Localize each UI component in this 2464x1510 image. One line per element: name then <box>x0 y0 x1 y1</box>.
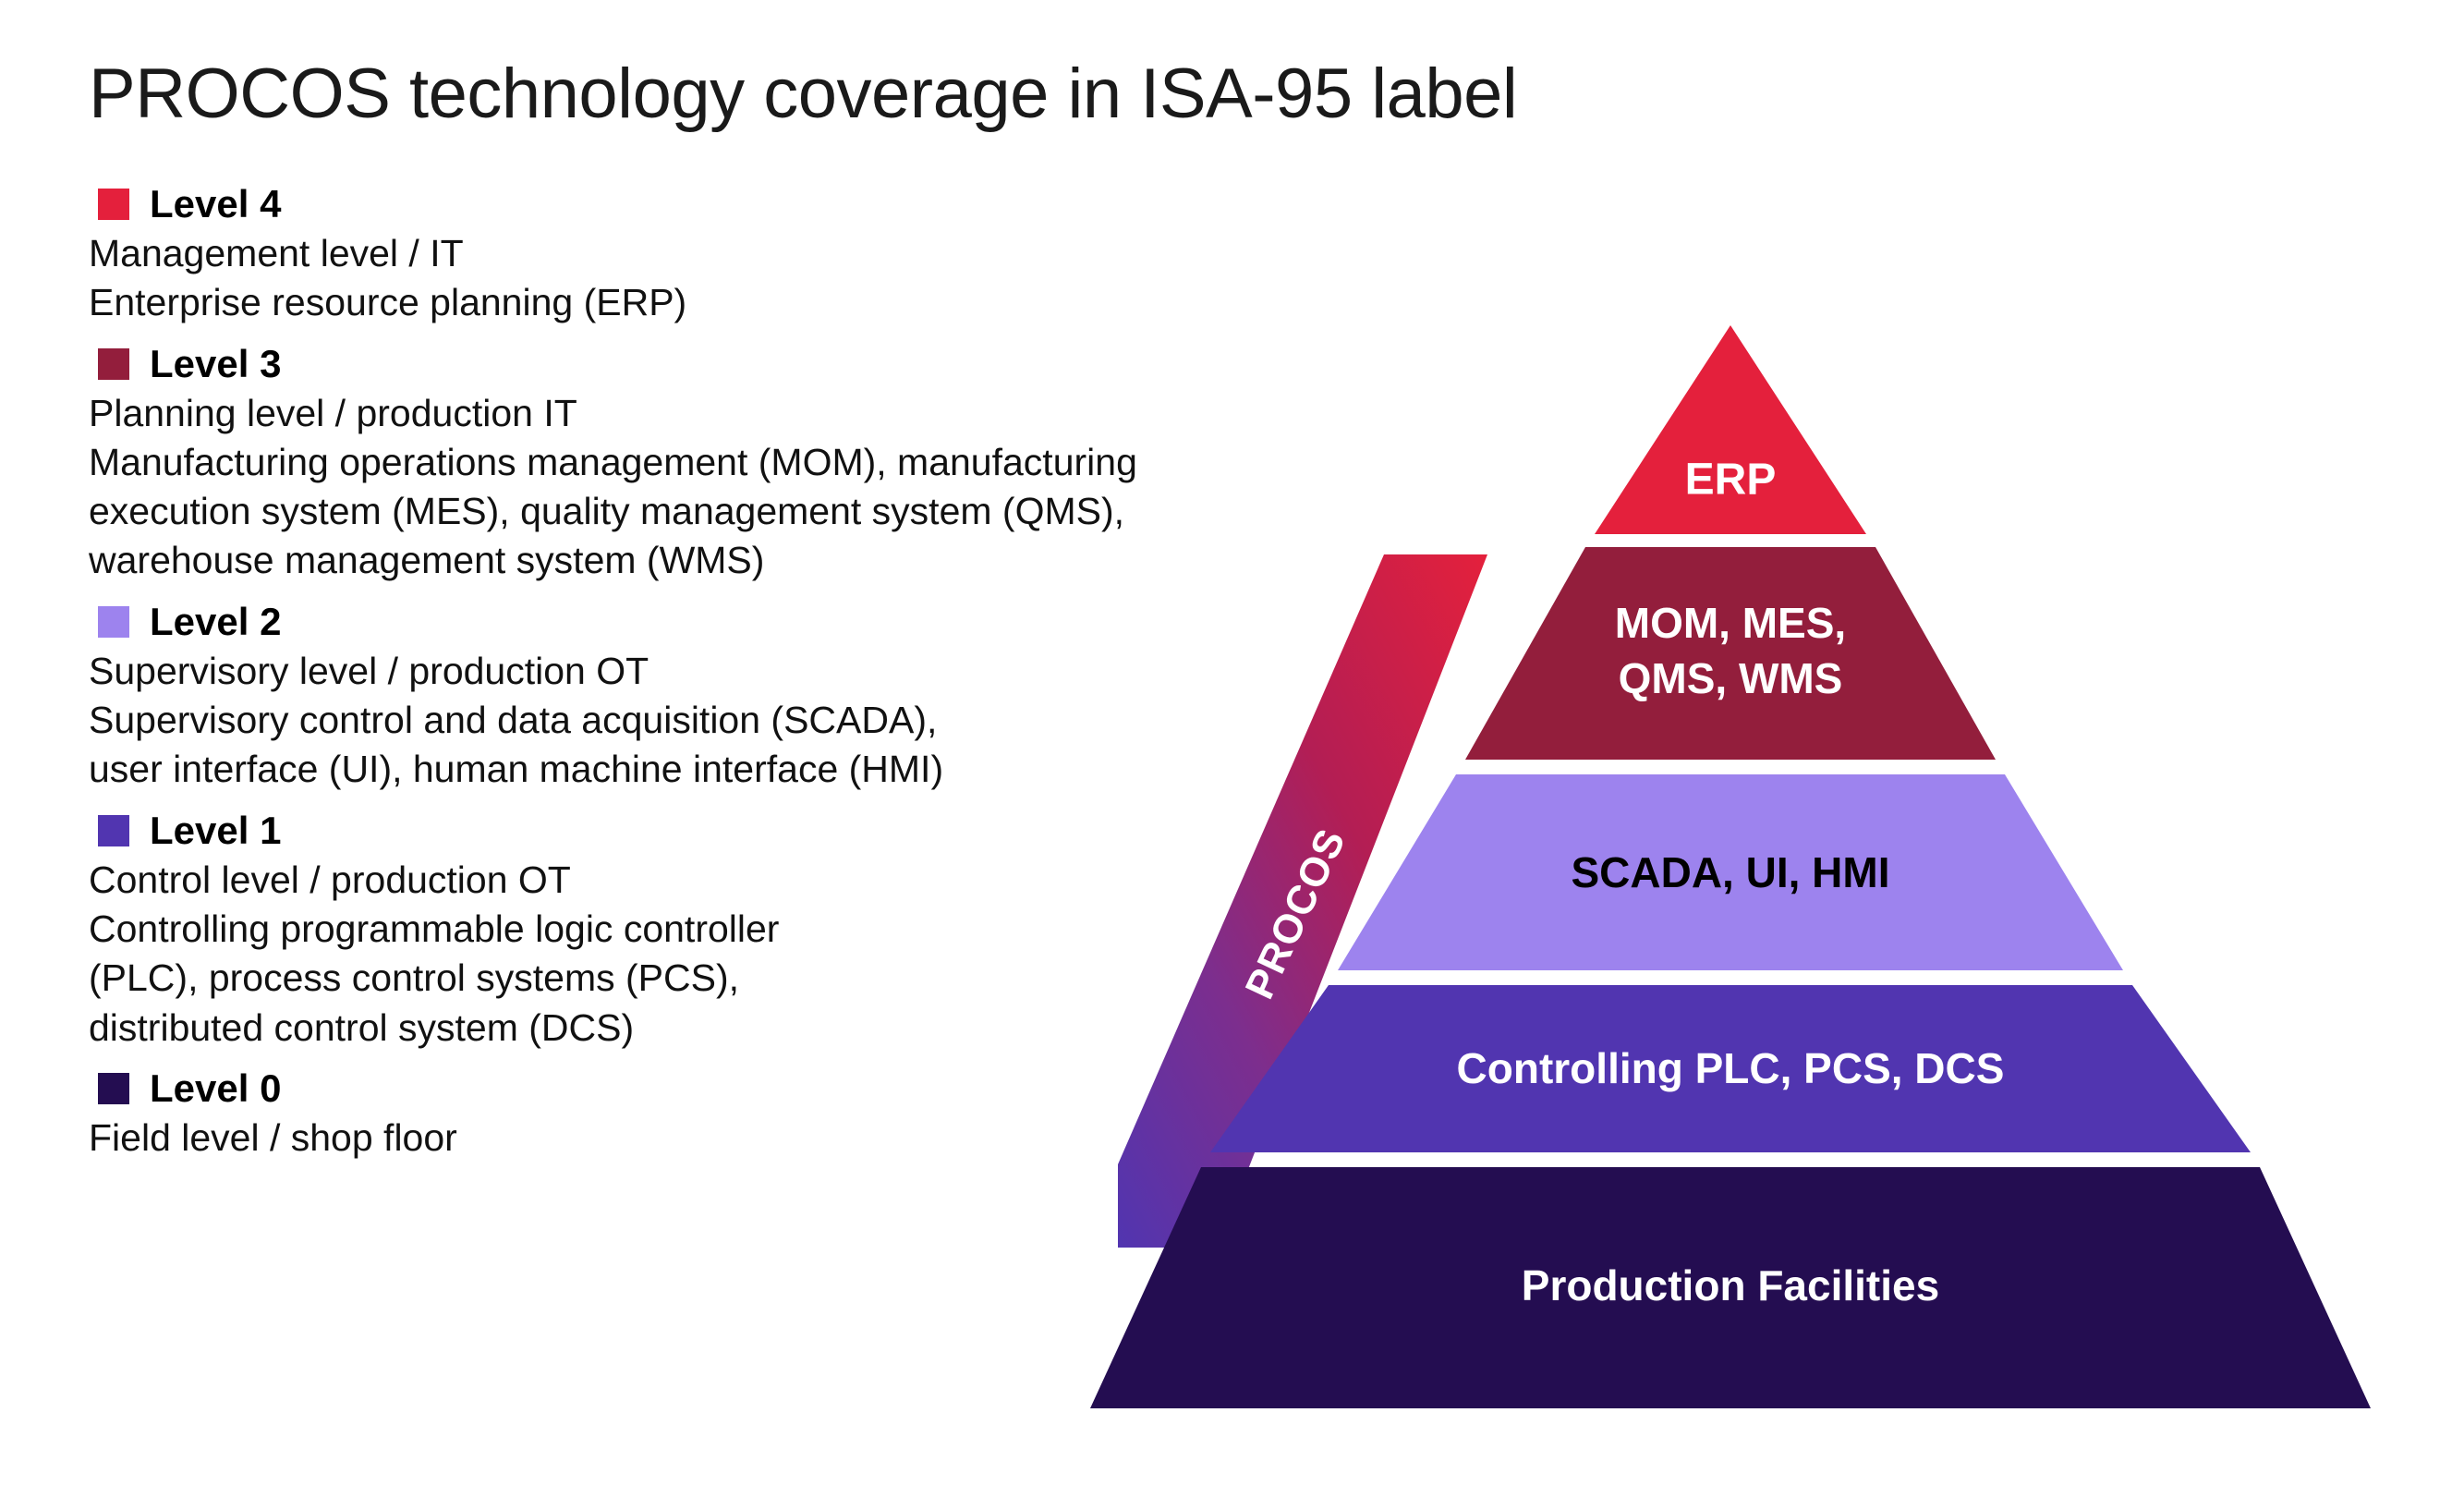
legend-swatch-icon <box>98 606 129 638</box>
pyramid-layer-label-production: Production Facilities <box>1522 1261 1939 1309</box>
legend-label: Level 0 <box>150 1069 281 1108</box>
legend-swatch-icon <box>98 348 129 380</box>
page-title: PROCOS technology coverage in ISA-95 lab… <box>89 54 1517 134</box>
diagram-canvas: PROCOS technology coverage in ISA-95 lab… <box>0 0 2464 1510</box>
legend-label: Level 3 <box>150 345 281 384</box>
legend-head: Level 4 <box>89 185 1475 224</box>
pyramid-layer-shape <box>1465 547 1996 760</box>
legend-label: Level 4 <box>150 185 281 224</box>
legend-swatch-icon <box>98 815 129 846</box>
legend-line: Management level / IT <box>89 229 1475 278</box>
pyramid-layer-label-plc: Controlling PLC, PCS, DCS <box>1457 1044 2005 1092</box>
legend-swatch-icon <box>98 189 129 220</box>
isa95-pyramid: PROCOS ERP MOM, MES, QMS, WMS SCADA, UI,… <box>1016 277 2421 1460</box>
legend-label: Level 2 <box>150 603 281 641</box>
pyramid-layer-label-mom-line2: QMS, WMS <box>1619 654 1843 702</box>
pyramid-layer-label-mom-line1: MOM, MES, <box>1615 599 1846 647</box>
pyramid-layer-level2: SCADA, UI, HMI <box>1338 774 2123 970</box>
pyramid-layer-level3: MOM, MES, QMS, WMS <box>1465 547 1996 760</box>
legend-swatch-icon <box>98 1073 129 1104</box>
legend-label: Level 1 <box>150 811 281 850</box>
pyramid-layer-level0: Production Facilities <box>1090 1167 2371 1408</box>
pyramid-layer-level4: ERP <box>1595 325 1866 534</box>
pyramid-layer-level1: Controlling PLC, PCS, DCS <box>1210 985 2251 1152</box>
pyramid-svg: PROCOS ERP MOM, MES, QMS, WMS SCADA, UI,… <box>1016 277 2421 1460</box>
pyramid-layer-label-erp: ERP <box>1685 456 1777 505</box>
pyramid-layer-label-scada: SCADA, UI, HMI <box>1572 848 1890 896</box>
